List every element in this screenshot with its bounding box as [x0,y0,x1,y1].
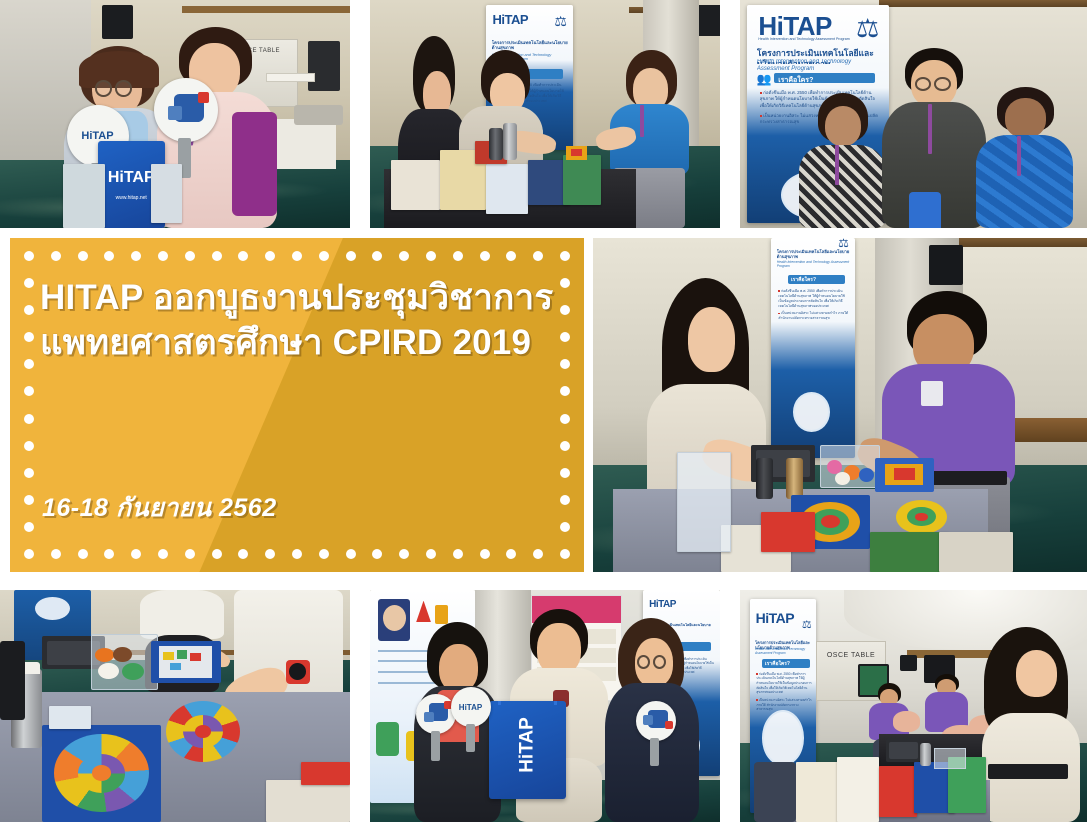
banner-border-dot [104,251,114,261]
banner-border-dot [24,414,34,424]
banner-border-dot [292,251,302,261]
banner-border-dot [24,441,34,451]
banner-border-dot [24,278,34,288]
photo-two-women-with-hitap-paddles: OSCE TABLE [0,0,350,228]
banner-border-dot [185,549,195,559]
banner-title-line-1: HITAP ออกบูธงานประชุมวิชาการ [40,276,558,321]
eyeglasses-icon [115,80,132,96]
rollup-title-en: Health Intervention and Technology Asses… [755,648,812,659]
tangram-star-mosaic [161,697,245,767]
eyeglasses-icon [934,77,951,91]
delegate-left [799,93,886,228]
scales-of-justice-icon: ⚖ [856,13,879,44]
rollup-title-en: Health Intervention and Technology Asses… [777,260,850,273]
banner-title: HITAP ออกบูธงานประชุมวิชาการ แพทยศาสตรศึ… [40,276,558,366]
photo-collage: OSCE TABLE [0,0,1087,822]
photo-booth-host-with-osce-area: HiTAP ⚖ โครงการประเมินเทคโนโลยีและนโยบาย… [740,590,1087,822]
banner-border-dot [158,251,168,261]
banner-border-dot [185,251,195,261]
banner-date: 16-18 กันยายน 2562 [42,488,277,528]
lanyard [1017,136,1021,176]
delegate-right [976,87,1073,228]
hitap-paddle-sign: HiTAP [451,687,521,757]
photo-three-delegates-in-front-of-rollup: HiTAP ⚖ Health Intervention and Technolo… [740,0,1087,228]
hitap-logo-text: HiTAP [81,130,113,142]
banner-border-dot [24,495,34,505]
photo-three-visitors-with-tote-and-paddles: HiTAP โครงการประเมินเทคโนโลยีและนโยบายด้… [370,590,720,822]
waist-belt [988,764,1067,780]
hitap-logo-text: HiTAP [459,703,482,712]
rollup-bullet-1: ก่อตั้งขึ้นเมื่อ พ.ศ. 2550 เพื่อทำการประ… [778,289,845,308]
eyeglasses-icon [95,80,112,96]
lanyard [835,145,839,185]
banner-border-dot [78,251,88,261]
name-badge [921,381,943,406]
rollup-bullet-1: ก่อตั้งขึ้นเมื่อ พ.ศ. 2550 เพื่อทำการประ… [756,672,811,695]
banner-border-dot [51,251,61,261]
banner-border-dot [158,549,168,559]
rollup-bullets: ก่อตั้งขึ้นเมื่อ พ.ศ. 2550 เพื่อทำการประ… [756,672,812,715]
banner-border-dot [131,251,141,261]
hitap-tote-bag [909,192,940,228]
osce-table-sign-label: OSCE TABLE [827,652,875,659]
thumbs-up-paddle-sign [636,701,706,771]
banner-border-dot [24,549,34,559]
banner-border-dot [24,251,34,261]
photo-staff-demonstrating-tangram-activity: ⚖ โครงการประเมินเทคโนโลยีและนโยบายด้านสุ… [593,238,1087,572]
people-icon: 👥 [757,72,771,83]
delegate-center [882,48,986,228]
scales-of-justice-icon: ⚖ [554,13,567,30]
wristwatch [286,660,310,683]
banner-title-line-2: แพทยศาสตรศึกษา CPIRD 2019 [40,321,558,366]
banner-border-dot [24,386,34,396]
banner-border-dot [319,251,329,261]
hitap-logo-text: HiTAP [756,610,794,626]
cpr-manikin [893,711,921,732]
chair [754,762,796,822]
eyeglasses-icon [653,655,666,669]
rollup-title-en: Health Intervention and Technology Asses… [757,59,881,72]
banner-border-dot [238,251,248,261]
banner-border-dot [131,549,141,559]
rollup-section-heading: เราคือใคร? [765,660,790,668]
banner-border-dot [24,305,34,315]
rollup-bullet-2: เป็นหน่วยงานอิสระ ไม่แสวงหาผลกำไร ภายใต้… [778,311,848,320]
banner-border-dot [104,549,114,559]
thumbs-up-paddle-sign [154,78,238,165]
tangram-star-artwork [559,141,594,164]
banner-border-dot [24,359,34,369]
rollup-section-heading: เราคือใคร? [791,276,816,284]
scales-of-justice-icon: ⚖ [838,238,849,250]
banner-border-dot [24,468,34,478]
acrylic-ball-box [820,445,879,488]
eyeglasses-icon [637,655,650,669]
acrylic-ball-box [91,634,158,690]
event-title-banner: HITAP ออกบูธงานประชุมวิชาการ แพทยศาสตรศึ… [10,238,584,572]
rollup-bullets: ก่อตั้งขึ้นเมื่อ พ.ศ. 2550 เพื่อทำการประ… [778,289,849,337]
hitap-rollup-banner: ⚖ โครงการประเมินเทคโนโลยีและนโยบายด้านสุ… [771,238,855,458]
banner-border-dot [51,549,61,559]
banner-border-dot [24,522,34,532]
tangram-piece-tray [151,641,221,683]
booth-host [976,627,1080,822]
tangram-star-tray [875,458,934,491]
lanyard [640,105,644,137]
eyeglasses-icon [915,77,932,91]
scales-of-justice-icon: ⚖ [802,618,812,631]
hitap-logo-text: HiTAP [649,599,676,610]
banner-border-dot [24,332,34,342]
banner-border-dot [265,251,275,261]
acrylic-ball-box [934,748,965,769]
hitap-logo-text: HiTAP [493,12,529,27]
rollup-section-heading: เราคือใคร? [778,75,813,86]
lanyard [928,104,932,154]
photo-booth-visitors-browsing-materials: HiTAP ⚖ โครงการประเมินเทคโนโลยีและนโยบาย… [370,0,720,228]
photo-tangram-activity-closeup [0,590,350,822]
tangram-star-blue-board [42,725,161,822]
banner-border-dot [212,251,222,261]
banner-border-dot [78,549,88,559]
